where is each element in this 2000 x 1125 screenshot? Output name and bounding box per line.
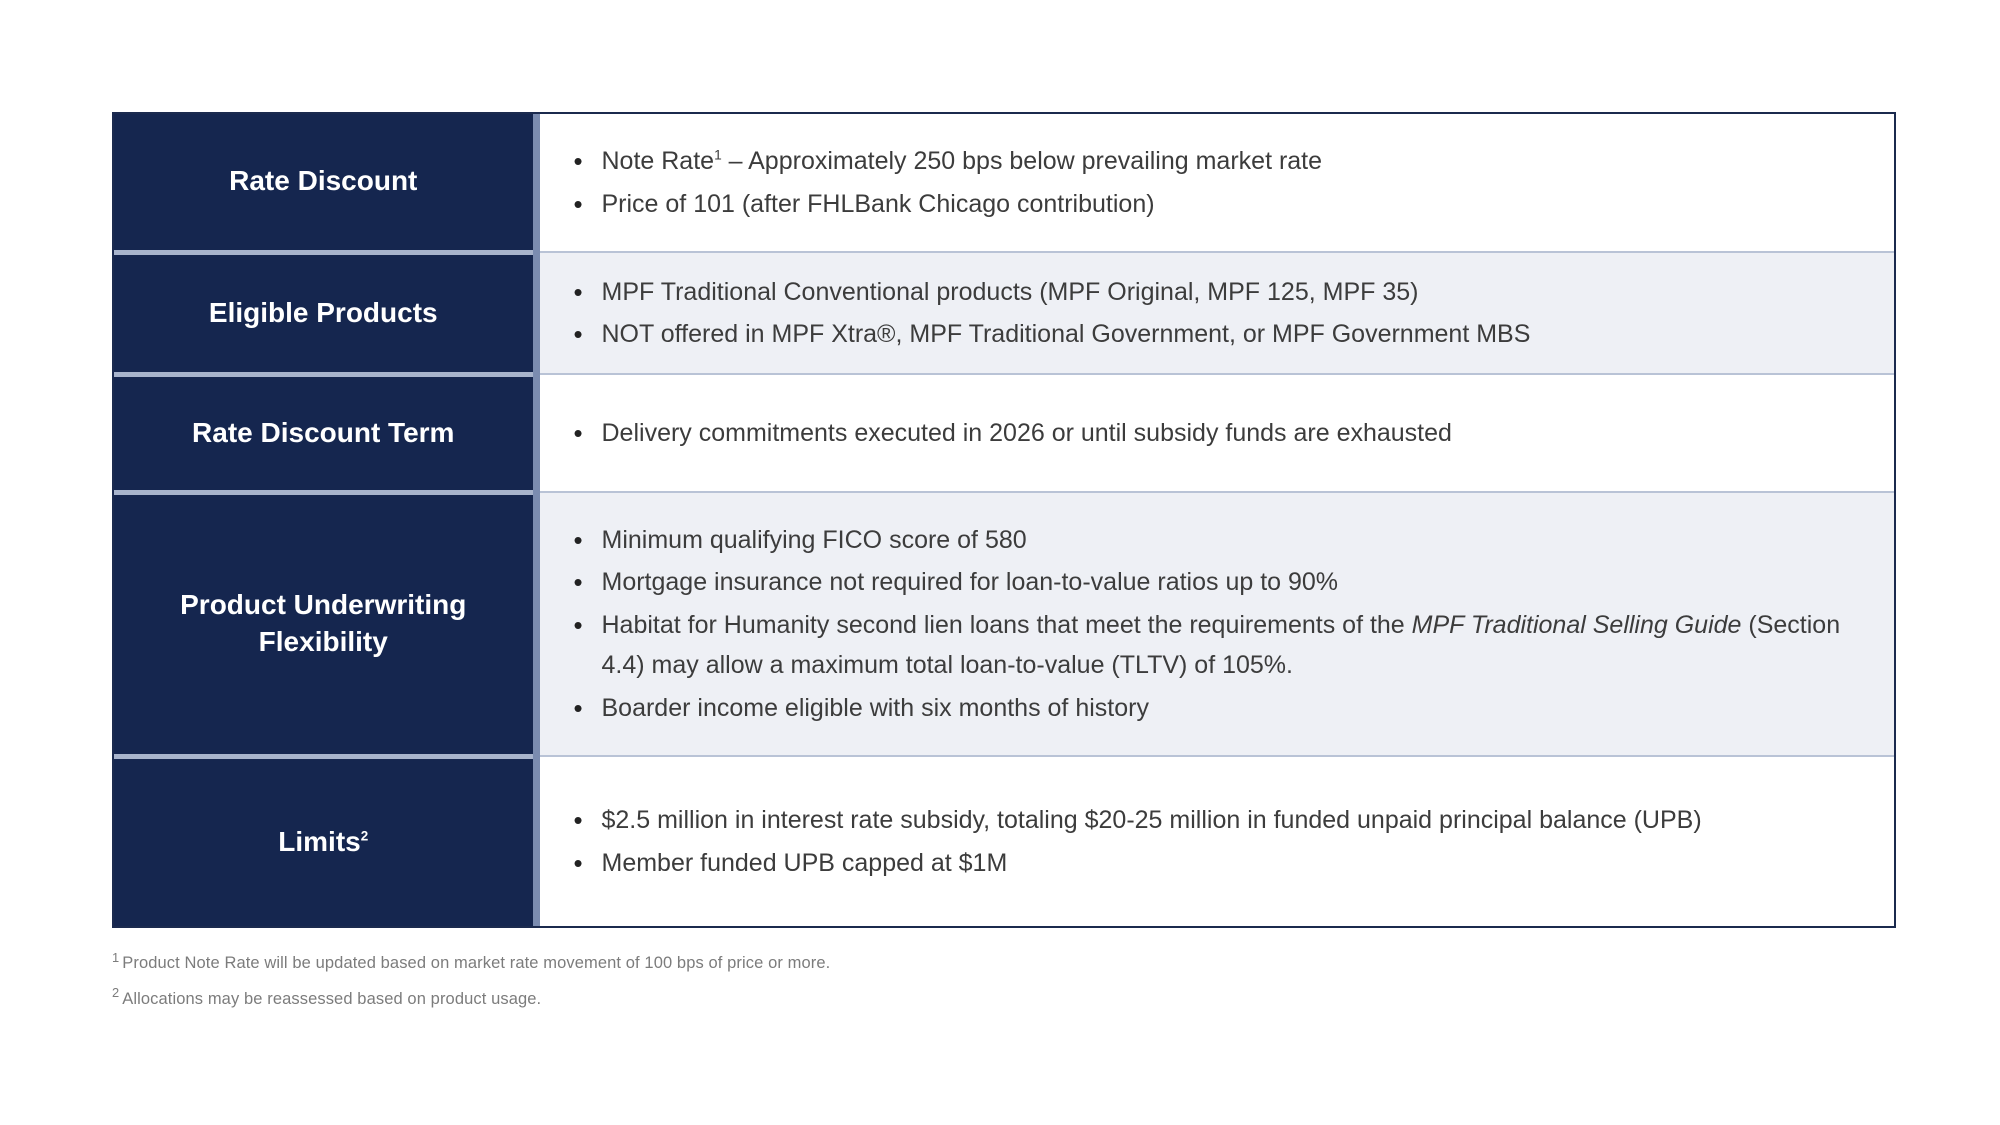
row-content-1: MPF Traditional Conventional products (M… xyxy=(536,252,1894,374)
bullet-list: Minimum qualifying FICO score of 580Mort… xyxy=(570,520,1869,729)
row-content-4: $2.5 million in interest rate subsidy, t… xyxy=(536,756,1894,926)
row-label-text: Eligible Products xyxy=(209,297,438,328)
bullet-item: Minimum qualifying FICO score of 580 xyxy=(570,520,1869,561)
bullet-list: $2.5 million in interest rate subsidy, t… xyxy=(570,800,1869,883)
bullet-item: MPF Traditional Conventional products (M… xyxy=(570,272,1869,313)
row-label-3: Product Underwriting Flexibility xyxy=(114,492,536,756)
row-content-2: Delivery commitments executed in 2026 or… xyxy=(536,374,1894,492)
spec-table-body: Rate DiscountNote Rate1 – Approximately … xyxy=(114,114,1894,926)
product-summary-table: Rate DiscountNote Rate1 – Approximately … xyxy=(112,112,1896,928)
italic-text: MPF Traditional Selling Guide xyxy=(1412,611,1742,639)
bullet-text: Mortgage insurance not required for loan… xyxy=(602,568,1339,596)
bullet-item: Price of 101 (after FHLBank Chicago cont… xyxy=(570,184,1869,225)
bullet-list: Note Rate1 – Approximately 250 bps below… xyxy=(570,141,1869,224)
bullet-text: Note Rate xyxy=(602,147,715,175)
footnote-marker: 2 xyxy=(112,985,119,1000)
footnote-text: Allocations may be reassessed based on p… xyxy=(122,990,541,1008)
footnote-marker: 1 xyxy=(714,148,722,163)
table-row: Product Underwriting FlexibilityMinimum … xyxy=(114,492,1894,756)
bullet-item: $2.5 million in interest rate subsidy, t… xyxy=(570,800,1869,841)
table-row: Rate Discount TermDelivery commitments e… xyxy=(114,374,1894,492)
bullet-list: MPF Traditional Conventional products (M… xyxy=(570,272,1869,355)
row-label-1: Eligible Products xyxy=(114,252,536,374)
row-content-0: Note Rate1 – Approximately 250 bps below… xyxy=(536,114,1894,252)
bullet-item: Boarder income eligible with six months … xyxy=(570,688,1869,729)
row-label-2: Rate Discount Term xyxy=(114,374,536,492)
footnote-1: 1Product Note Rate will be updated based… xyxy=(112,952,1812,976)
table-row: Eligible ProductsMPF Traditional Convent… xyxy=(114,252,1894,374)
bullet-item: Member funded UPB capped at $1M xyxy=(570,843,1869,884)
bullet-item: NOT offered in MPF Xtra®, MPF Traditiona… xyxy=(570,314,1869,355)
footnote-marker: 1 xyxy=(112,950,119,965)
row-label-0: Rate Discount xyxy=(114,114,536,252)
bullet-text: Delivery commitments executed in 2026 or… xyxy=(602,419,1452,447)
bullet-text: Habitat for Humanity second lien loans t… xyxy=(602,611,1412,639)
row-content-3: Minimum qualifying FICO score of 580Mort… xyxy=(536,492,1894,756)
bullet-text: MPF Traditional Conventional products (M… xyxy=(602,278,1419,306)
row-label-text: Rate Discount Term xyxy=(192,417,454,448)
bullet-item: Note Rate1 – Approximately 250 bps below… xyxy=(570,141,1869,182)
bullet-text: Boarder income eligible with six months … xyxy=(602,694,1149,722)
spec-table-grid: Rate DiscountNote Rate1 – Approximately … xyxy=(114,114,1894,926)
footnote-list: 1Product Note Rate will be updated based… xyxy=(112,952,1812,1024)
bullet-text: Member funded UPB capped at $1M xyxy=(602,849,1008,877)
bullet-text: NOT offered in MPF Xtra®, MPF Traditiona… xyxy=(602,320,1531,348)
bullet-text: $2.5 million in interest rate subsidy, t… xyxy=(602,806,1702,834)
table-row: Rate DiscountNote Rate1 – Approximately … xyxy=(114,114,1894,252)
bullet-text: Price of 101 (after FHLBank Chicago cont… xyxy=(602,190,1155,218)
slide-canvas: Rate DiscountNote Rate1 – Approximately … xyxy=(0,0,2000,1125)
row-label-text: Limits xyxy=(278,826,360,857)
bullet-item: Mortgage insurance not required for loan… xyxy=(570,562,1869,603)
row-label-4: Limits2 xyxy=(114,756,536,926)
bullet-item: Delivery commitments executed in 2026 or… xyxy=(570,413,1869,454)
table-row: Limits2$2.5 million in interest rate sub… xyxy=(114,756,1894,926)
bullet-text: – Approximately 250 bps below prevailing… xyxy=(722,147,1322,175)
footnote-text: Product Note Rate will be updated based … xyxy=(122,954,830,972)
bullet-list: Delivery commitments executed in 2026 or… xyxy=(570,413,1869,454)
row-label-text: Rate Discount xyxy=(229,165,417,196)
row-label-text: Product Underwriting Flexibility xyxy=(180,589,466,657)
bullet-text: Minimum qualifying FICO score of 580 xyxy=(602,526,1027,554)
bullet-item: Habitat for Humanity second lien loans t… xyxy=(570,605,1869,686)
row-label-footnote-marker: 2 xyxy=(361,828,368,843)
footnote-2: 2Allocations may be reassessed based on … xyxy=(112,988,1812,1012)
